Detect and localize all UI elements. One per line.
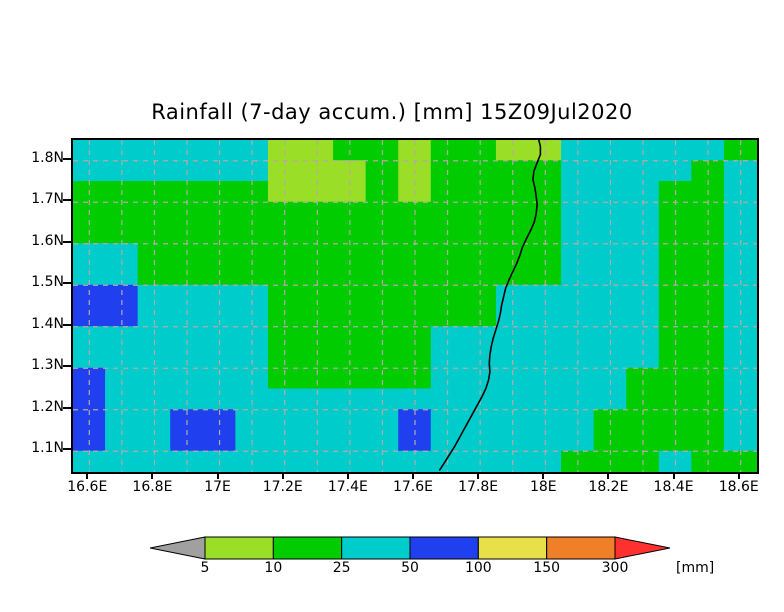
y-tick-label: 1.5N xyxy=(2,274,64,290)
raster-cell xyxy=(333,347,367,369)
raster-cell xyxy=(170,285,204,307)
raster-cell xyxy=(366,389,400,411)
raster-cell xyxy=(73,181,106,203)
raster-cell xyxy=(105,243,139,265)
y-tick-mark xyxy=(63,324,71,326)
raster-cell xyxy=(203,181,237,203)
y-tick-label: 1.2N xyxy=(2,399,64,415)
raster-cell xyxy=(73,389,106,411)
raster-cell xyxy=(105,285,139,307)
raster-cell xyxy=(398,306,432,328)
raster-cell xyxy=(496,285,530,307)
raster-cell xyxy=(561,202,595,224)
raster-cell xyxy=(301,223,335,245)
raster-cell xyxy=(170,243,204,265)
raster-cell xyxy=(105,264,139,286)
raster-cell xyxy=(431,160,465,182)
raster-cell xyxy=(235,347,269,369)
raster-cell xyxy=(138,306,172,328)
raster-cell xyxy=(268,181,302,203)
raster-cell xyxy=(170,409,204,431)
raster-cell xyxy=(301,264,335,286)
raster-cell xyxy=(138,368,172,390)
raster-cell xyxy=(626,140,660,161)
raster-cell xyxy=(561,243,595,265)
raster-cell xyxy=(73,243,106,265)
raster-cell xyxy=(463,285,497,307)
raster-cell xyxy=(659,409,693,431)
raster-cell xyxy=(105,409,139,431)
raster-cell xyxy=(659,223,693,245)
raster-cell xyxy=(496,223,530,245)
raster-cell xyxy=(301,451,335,472)
raster-cell xyxy=(659,326,693,348)
raster-cell xyxy=(333,430,367,452)
raster-cell xyxy=(73,409,106,431)
raster-cell xyxy=(463,368,497,390)
raster-cell xyxy=(170,368,204,390)
raster-cell xyxy=(268,306,302,328)
raster-cell xyxy=(496,368,530,390)
x-tick-mark xyxy=(673,472,675,479)
raster-cell xyxy=(463,430,497,452)
raster-cell xyxy=(170,160,204,182)
raster-cell xyxy=(463,160,497,182)
raster-cell xyxy=(73,347,106,369)
raster-cell xyxy=(268,160,302,182)
raster-cell xyxy=(268,451,302,472)
raster-cell xyxy=(235,451,269,472)
raster-cell xyxy=(268,347,302,369)
raster-cell xyxy=(268,430,302,452)
raster-cell xyxy=(529,368,563,390)
page-title: Rainfall (7-day accum.) [mm] 15Z09Jul202… xyxy=(0,100,784,124)
raster-cell xyxy=(235,160,269,182)
raster-cell xyxy=(431,389,465,411)
raster-cell xyxy=(691,202,725,224)
raster-cell xyxy=(626,306,660,328)
y-tick-label: 1.8N xyxy=(2,150,64,166)
raster-cell xyxy=(594,368,628,390)
map-raster-clip xyxy=(73,140,757,472)
raster-cell xyxy=(659,389,693,411)
raster-cell xyxy=(529,430,563,452)
raster-cell xyxy=(73,430,106,452)
raster-cell xyxy=(691,389,725,411)
x-tick-mark xyxy=(412,472,414,479)
raster-cell xyxy=(398,368,432,390)
raster-cell xyxy=(170,202,204,224)
raster-cell xyxy=(105,306,139,328)
raster-cell xyxy=(691,430,725,452)
raster-cell xyxy=(724,326,757,348)
raster-cell xyxy=(496,430,530,452)
raster-cell xyxy=(724,389,757,411)
raster-cell xyxy=(626,347,660,369)
raster-cell xyxy=(431,409,465,431)
raster-cell xyxy=(529,223,563,245)
x-tick-mark xyxy=(477,472,479,479)
raster-cell xyxy=(626,285,660,307)
raster-cell xyxy=(724,430,757,452)
raster-cell xyxy=(594,264,628,286)
raster-cell xyxy=(463,409,497,431)
raster-cell xyxy=(235,389,269,411)
raster-cell xyxy=(138,285,172,307)
raster-cell xyxy=(724,243,757,265)
raster-cell xyxy=(594,306,628,328)
raster-cell xyxy=(366,223,400,245)
raster-cell xyxy=(724,140,757,161)
raster-cell xyxy=(235,223,269,245)
raster-cell xyxy=(691,140,725,161)
raster-cell xyxy=(594,285,628,307)
raster-cell xyxy=(138,264,172,286)
raster-cell xyxy=(431,243,465,265)
raster-cell xyxy=(691,326,725,348)
y-tick-label: 1.6N xyxy=(2,233,64,249)
colorbar-tick-label: 25 xyxy=(312,560,372,576)
raster-cell xyxy=(561,451,595,472)
raster-cell xyxy=(268,223,302,245)
raster-cell xyxy=(301,202,335,224)
raster-cell xyxy=(138,140,172,161)
raster-cell xyxy=(268,368,302,390)
raster-cell xyxy=(529,326,563,348)
colorbar-swatch xyxy=(547,537,615,559)
raster-cell xyxy=(203,264,237,286)
y-tick-mark xyxy=(63,282,71,284)
raster-cell xyxy=(529,347,563,369)
colorbar-tick-label: 10 xyxy=(243,560,303,576)
raster-cell xyxy=(333,160,367,182)
raster-cell xyxy=(691,264,725,286)
raster-cell xyxy=(626,451,660,472)
raster-cell xyxy=(170,306,204,328)
raster-cell xyxy=(529,389,563,411)
raster-cell xyxy=(561,409,595,431)
raster-cell xyxy=(301,140,335,161)
raster-cell xyxy=(105,181,139,203)
x-tick-mark xyxy=(738,472,740,479)
raster-cell xyxy=(659,306,693,328)
raster-cell xyxy=(594,181,628,203)
raster-cell xyxy=(268,389,302,411)
raster-cell xyxy=(366,409,400,431)
raster-cell xyxy=(333,368,367,390)
y-tick-mark xyxy=(63,407,71,409)
colorbar-swatch xyxy=(205,537,273,559)
raster-cell xyxy=(724,285,757,307)
raster-cell xyxy=(73,140,106,161)
raster-cell xyxy=(203,430,237,452)
raster-cell xyxy=(170,264,204,286)
raster-cell xyxy=(203,223,237,245)
raster-cell xyxy=(366,243,400,265)
raster-cell xyxy=(398,285,432,307)
raster-cell xyxy=(333,326,367,348)
raster-cell xyxy=(73,368,106,390)
raster-cell xyxy=(366,285,400,307)
raster-cell xyxy=(724,181,757,203)
raster-cell xyxy=(73,264,106,286)
colorbar-tick-label: 300 xyxy=(585,560,645,576)
raster-cell xyxy=(529,160,563,182)
colorbar-over-arrow xyxy=(615,537,670,559)
raster-cell xyxy=(268,264,302,286)
raster-cell xyxy=(333,202,367,224)
raster-cell xyxy=(235,264,269,286)
raster-cell xyxy=(463,389,497,411)
raster-cell xyxy=(333,181,367,203)
colorbar-tick-label: 150 xyxy=(517,560,577,576)
raster-cell xyxy=(170,140,204,161)
raster-cell xyxy=(203,409,237,431)
raster-cell xyxy=(496,326,530,348)
raster-cell xyxy=(659,451,693,472)
map-plot-area xyxy=(71,138,759,474)
raster-cell xyxy=(235,409,269,431)
raster-cell xyxy=(105,326,139,348)
raster-cell xyxy=(561,389,595,411)
colorbar-swatch xyxy=(342,537,410,559)
raster-cell xyxy=(594,389,628,411)
raster-cell xyxy=(301,306,335,328)
raster-cell xyxy=(301,389,335,411)
raster-cell xyxy=(235,181,269,203)
raster-cell xyxy=(235,306,269,328)
raster-cell xyxy=(170,347,204,369)
raster-cell xyxy=(691,160,725,182)
raster-cell xyxy=(561,160,595,182)
raster-cell xyxy=(529,140,563,161)
raster-cell xyxy=(626,368,660,390)
raster-cell xyxy=(691,223,725,245)
raster-cell xyxy=(594,202,628,224)
raster-cell xyxy=(724,160,757,182)
raster-cell xyxy=(268,285,302,307)
rainfall-map-figure: Rainfall (7-day accum.) [mm] 15Z09Jul202… xyxy=(0,0,784,612)
raster-cell xyxy=(626,326,660,348)
raster-cell xyxy=(301,409,335,431)
y-tick-mark xyxy=(63,448,71,450)
raster-cell xyxy=(170,389,204,411)
colorbar-under-arrow xyxy=(150,537,205,559)
raster-cell xyxy=(529,264,563,286)
x-tick-mark xyxy=(347,472,349,479)
raster-cell xyxy=(105,202,139,224)
raster-cell xyxy=(138,430,172,452)
raster-cell xyxy=(203,347,237,369)
colorbar-legend: [mm] 5102550100150300 xyxy=(150,536,670,588)
raster-cell xyxy=(659,181,693,203)
raster-cell xyxy=(203,140,237,161)
raster-cell xyxy=(398,409,432,431)
colorbar-swatch xyxy=(273,537,341,559)
raster-cell xyxy=(594,347,628,369)
y-tick-mark xyxy=(63,158,71,160)
colorbar-tick-label: 100 xyxy=(448,560,508,576)
colorbar-units-label: [mm] xyxy=(676,560,714,576)
raster-cell xyxy=(659,202,693,224)
colorbar-swatch xyxy=(410,537,478,559)
raster-cell xyxy=(398,326,432,348)
raster-cell xyxy=(268,326,302,348)
raster-cell xyxy=(496,451,530,472)
raster-cell xyxy=(268,409,302,431)
raster-cell xyxy=(366,160,400,182)
raster-cell xyxy=(659,140,693,161)
raster-cell xyxy=(659,285,693,307)
raster-cell xyxy=(724,368,757,390)
x-tick-mark xyxy=(607,472,609,479)
raster-cell xyxy=(170,430,204,452)
raster-cell xyxy=(301,243,335,265)
raster-cell xyxy=(73,451,106,472)
raster-cell xyxy=(366,451,400,472)
colorbar-tick-label: 5 xyxy=(175,560,235,576)
raster-cell xyxy=(268,243,302,265)
raster-cell xyxy=(496,347,530,369)
raster-cell xyxy=(398,223,432,245)
raster-cell xyxy=(73,326,106,348)
raster-cell xyxy=(398,181,432,203)
raster-cell xyxy=(398,202,432,224)
raster-cell xyxy=(724,347,757,369)
y-tick-mark xyxy=(63,199,71,201)
raster-cell xyxy=(73,202,106,224)
raster-cell xyxy=(138,451,172,472)
raster-cell xyxy=(724,264,757,286)
raster-cell xyxy=(561,285,595,307)
raster-cell xyxy=(691,181,725,203)
raster-cell xyxy=(496,243,530,265)
raster-cell xyxy=(138,202,172,224)
raster-cell xyxy=(463,306,497,328)
x-tick-mark xyxy=(217,472,219,479)
raster-cell xyxy=(170,451,204,472)
raster-cell xyxy=(203,160,237,182)
raster-cell xyxy=(235,285,269,307)
raster-cell xyxy=(659,243,693,265)
raster-cell xyxy=(496,181,530,203)
y-tick-label: 1.4N xyxy=(2,316,64,332)
raster-cell xyxy=(691,285,725,307)
raster-cell xyxy=(626,389,660,411)
raster-cell xyxy=(366,430,400,452)
raster-cell xyxy=(561,181,595,203)
raster-cell xyxy=(431,285,465,307)
raster-cell xyxy=(203,306,237,328)
raster-cell xyxy=(366,140,400,161)
raster-cell xyxy=(529,306,563,328)
raster-cell xyxy=(268,202,302,224)
raster-cell xyxy=(431,347,465,369)
raster-cell xyxy=(529,451,563,472)
y-axis-labels: 1.8N1.7N1.6N1.5N1.4N1.3N1.2N1.1N xyxy=(0,0,64,612)
raster-cell xyxy=(431,368,465,390)
raster-cell xyxy=(431,181,465,203)
raster-cell xyxy=(561,430,595,452)
raster-cell xyxy=(398,264,432,286)
raster-cell xyxy=(333,223,367,245)
x-tick-mark xyxy=(282,472,284,479)
raster-cell xyxy=(170,326,204,348)
raster-cell xyxy=(333,306,367,328)
raster-cell xyxy=(431,430,465,452)
raster-cell xyxy=(463,202,497,224)
raster-cell xyxy=(333,451,367,472)
x-tick-mark xyxy=(542,472,544,479)
raster-cell xyxy=(105,368,139,390)
raster-cell xyxy=(594,140,628,161)
raster-cell xyxy=(529,243,563,265)
raster-cell xyxy=(431,264,465,286)
raster-cell xyxy=(203,326,237,348)
raster-cell xyxy=(366,264,400,286)
raster-cell xyxy=(529,181,563,203)
raster-cell xyxy=(105,347,139,369)
raster-cell xyxy=(398,140,432,161)
raster-cell xyxy=(138,326,172,348)
raster-cell xyxy=(431,140,465,161)
raster-cell xyxy=(626,243,660,265)
raster-cell xyxy=(73,223,106,245)
raster-cell xyxy=(366,306,400,328)
raster-cell xyxy=(301,347,335,369)
raster-cell xyxy=(138,347,172,369)
raster-cell xyxy=(594,326,628,348)
raster-cell xyxy=(626,202,660,224)
raster-cell xyxy=(659,347,693,369)
raster-cell xyxy=(626,430,660,452)
raster-cell xyxy=(105,160,139,182)
raster-cell xyxy=(235,140,269,161)
raster-cell xyxy=(594,243,628,265)
raster-cell xyxy=(366,181,400,203)
raster-cell xyxy=(235,368,269,390)
raster-cell xyxy=(333,264,367,286)
raster-cell xyxy=(431,223,465,245)
raster-cell xyxy=(138,409,172,431)
raster-cell xyxy=(594,430,628,452)
raster-cell xyxy=(73,160,106,182)
raster-cell xyxy=(561,264,595,286)
raster-cell xyxy=(203,368,237,390)
raster-cell xyxy=(463,347,497,369)
raster-cell xyxy=(463,243,497,265)
raster-cell xyxy=(366,202,400,224)
raster-cell xyxy=(529,202,563,224)
raster-cell xyxy=(594,451,628,472)
raster-cell xyxy=(496,160,530,182)
raster-cell xyxy=(203,285,237,307)
raster-cell xyxy=(268,140,302,161)
raster-cell xyxy=(138,243,172,265)
raster-cell xyxy=(496,389,530,411)
raster-cell xyxy=(496,306,530,328)
raster-cell xyxy=(235,326,269,348)
raster-cell xyxy=(105,140,139,161)
raster-cell xyxy=(170,223,204,245)
y-tick-mark xyxy=(63,241,71,243)
x-tick-mark xyxy=(86,472,88,479)
raster-cell xyxy=(73,285,106,307)
raster-cell xyxy=(366,326,400,348)
colorbar-tick-label: 50 xyxy=(380,560,440,576)
raster-cell xyxy=(659,264,693,286)
colorbar-swatches xyxy=(150,536,670,560)
